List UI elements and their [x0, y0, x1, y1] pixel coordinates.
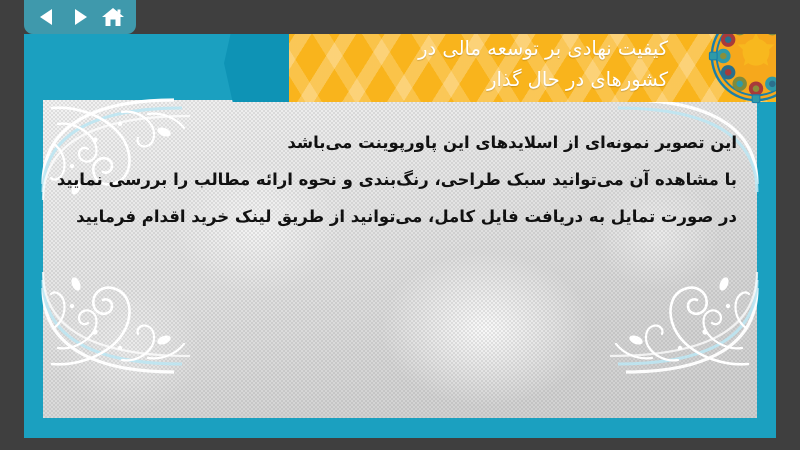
slide-canvas: این تصویر نمونه‌ای از اسلایدهای این پاور… [24, 34, 776, 438]
slide-body-text: این تصویر نمونه‌ای از اسلایدهای این پاور… [43, 100, 757, 418]
triangle-left-icon [36, 6, 58, 28]
home-button[interactable] [99, 4, 127, 30]
title-line-3: کشورهای در حال گذار [313, 64, 668, 95]
slide-title: کامل تحلیل تأثیر درآمد منابع طبیعی و کیف… [313, 34, 668, 95]
slide-viewer: این تصویر نمونه‌ای از اسلایدهای این پاور… [0, 0, 800, 450]
triangle-right-icon [69, 6, 91, 28]
body-line-3: در صورت تمایل به دریافت فایل کامل، می‌تو… [63, 198, 737, 235]
body-line-1: این تصویر نمونه‌ای از اسلایدهای این پاور… [63, 124, 737, 161]
page-margin-left [0, 0, 24, 450]
navigation-bar [0, 0, 800, 34]
title-line-2: کیفیت نهادی بر توسعه مالی در [313, 34, 668, 64]
home-icon [101, 6, 125, 28]
previous-slide-button[interactable] [33, 4, 61, 30]
next-slide-button[interactable] [66, 4, 94, 30]
page-margin-bottom [0, 438, 800, 450]
ornamental-medallion-icon [708, 34, 776, 104]
navigation-button-group [24, 0, 136, 34]
title-tab-accent [224, 34, 296, 102]
body-line-2: با مشاهده آن می‌توانید سبک طراحی، رنگ‌بن… [63, 161, 737, 198]
slide-content-panel: این تصویر نمونه‌ای از اسلایدهای این پاور… [43, 100, 757, 418]
page-margin-right [776, 0, 800, 450]
